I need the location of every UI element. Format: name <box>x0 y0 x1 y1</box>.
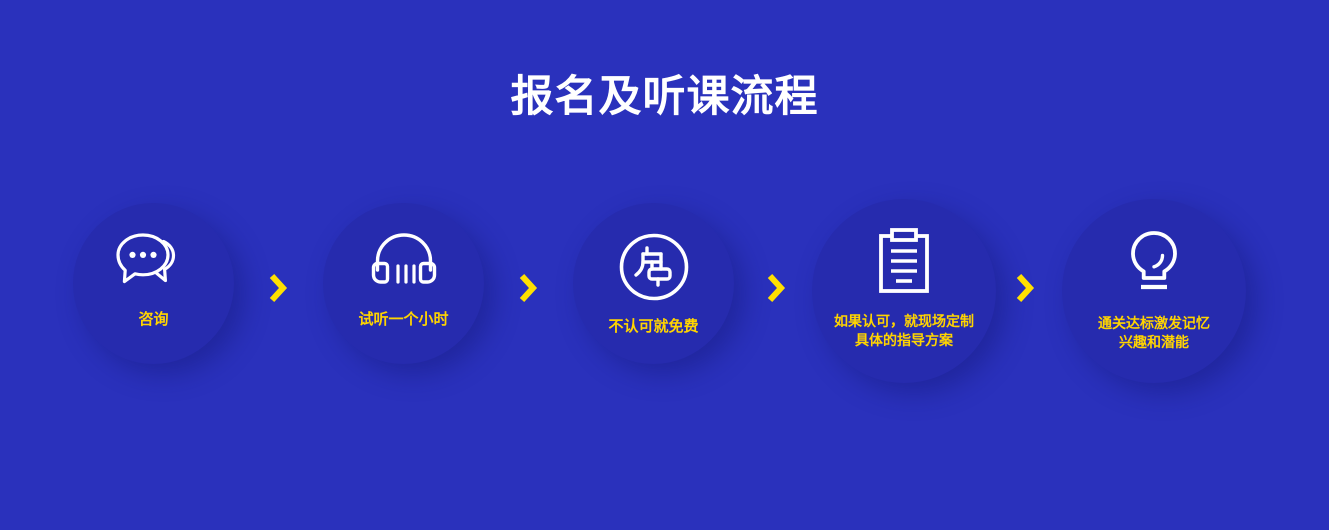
process-flow-steps: 咨询 试听一个小时 <box>0 190 1329 400</box>
flow-step-custom-plan[interactable]: 如果认可，就现场定制 具体的指导方案 <box>812 199 996 383</box>
flow-step-label: 通关达标激发记忆 兴趣和潜能 <box>1098 314 1210 352</box>
process-flow-banner: 报名及听课流程 咨询 <box>0 0 1329 530</box>
flow-step-label: 咨询 <box>138 310 168 330</box>
clipboard-icon <box>873 228 935 294</box>
flow-step-label: 如果认可，就现场定制 具体的指导方案 <box>834 312 974 350</box>
chevron-right-icon <box>518 273 538 303</box>
flow-step-free-if-unsatisfied[interactable]: 不认可就免费 <box>573 203 734 364</box>
flow-step-label: 试听一个小时 <box>358 310 448 330</box>
flow-step-consultation[interactable]: 咨询 <box>73 203 234 364</box>
flow-step-potential-inspiration[interactable]: 通关达标激发记忆 兴趣和潜能 <box>1062 199 1246 383</box>
chevron-right-icon <box>268 273 288 303</box>
chat-bubbles-icon <box>116 232 192 294</box>
flow-step-trial-listening[interactable]: 试听一个小时 <box>323 203 484 364</box>
chevron-right-icon <box>766 273 786 303</box>
free-circle-icon <box>618 232 690 302</box>
flow-step-label: 不认可就免费 <box>608 317 698 337</box>
headphones-icon <box>366 232 442 294</box>
lightbulb-icon <box>1124 230 1184 294</box>
page-title: 报名及听课流程 <box>0 76 1329 119</box>
chevron-right-icon <box>1015 273 1035 303</box>
